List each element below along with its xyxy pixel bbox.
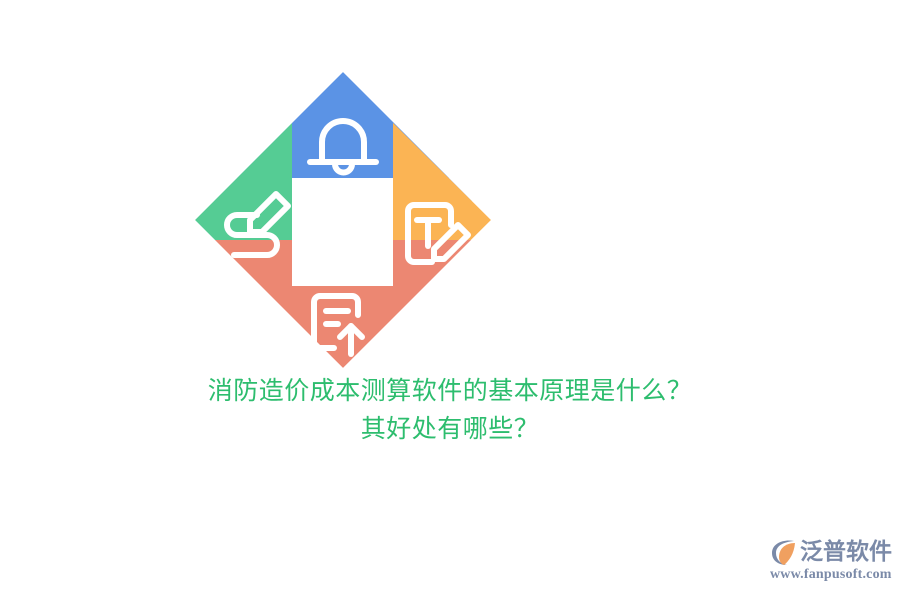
brand-name: 泛普软件 — [800, 538, 892, 566]
brand-url: www.fanpusoft.com — [770, 567, 892, 583]
headline-line-1: 消防造价成本测算软件的基本原理是什么？ — [0, 372, 900, 410]
page-headline: 消防造价成本测算软件的基本原理是什么？ 其好处有哪些？ — [0, 372, 900, 448]
rosette-svg — [182, 70, 506, 370]
page-canvas: 消防造价成本测算软件的基本原理是什么？ 其好处有哪些？ 泛普软件 www.fan… — [0, 0, 900, 600]
fanpu-logo-icon — [768, 537, 798, 567]
brand-logo: 泛普软件 www.fanpusoft.com — [768, 536, 896, 588]
logo-arc — [779, 543, 795, 565]
headline-line-2: 其好处有哪些？ — [0, 410, 900, 448]
fanpu-logo-svg — [768, 537, 798, 567]
rosette-center-square — [292, 178, 393, 286]
brand-logo-row: 泛普软件 — [768, 536, 892, 568]
diamond-rosette-graphic — [182, 70, 506, 370]
